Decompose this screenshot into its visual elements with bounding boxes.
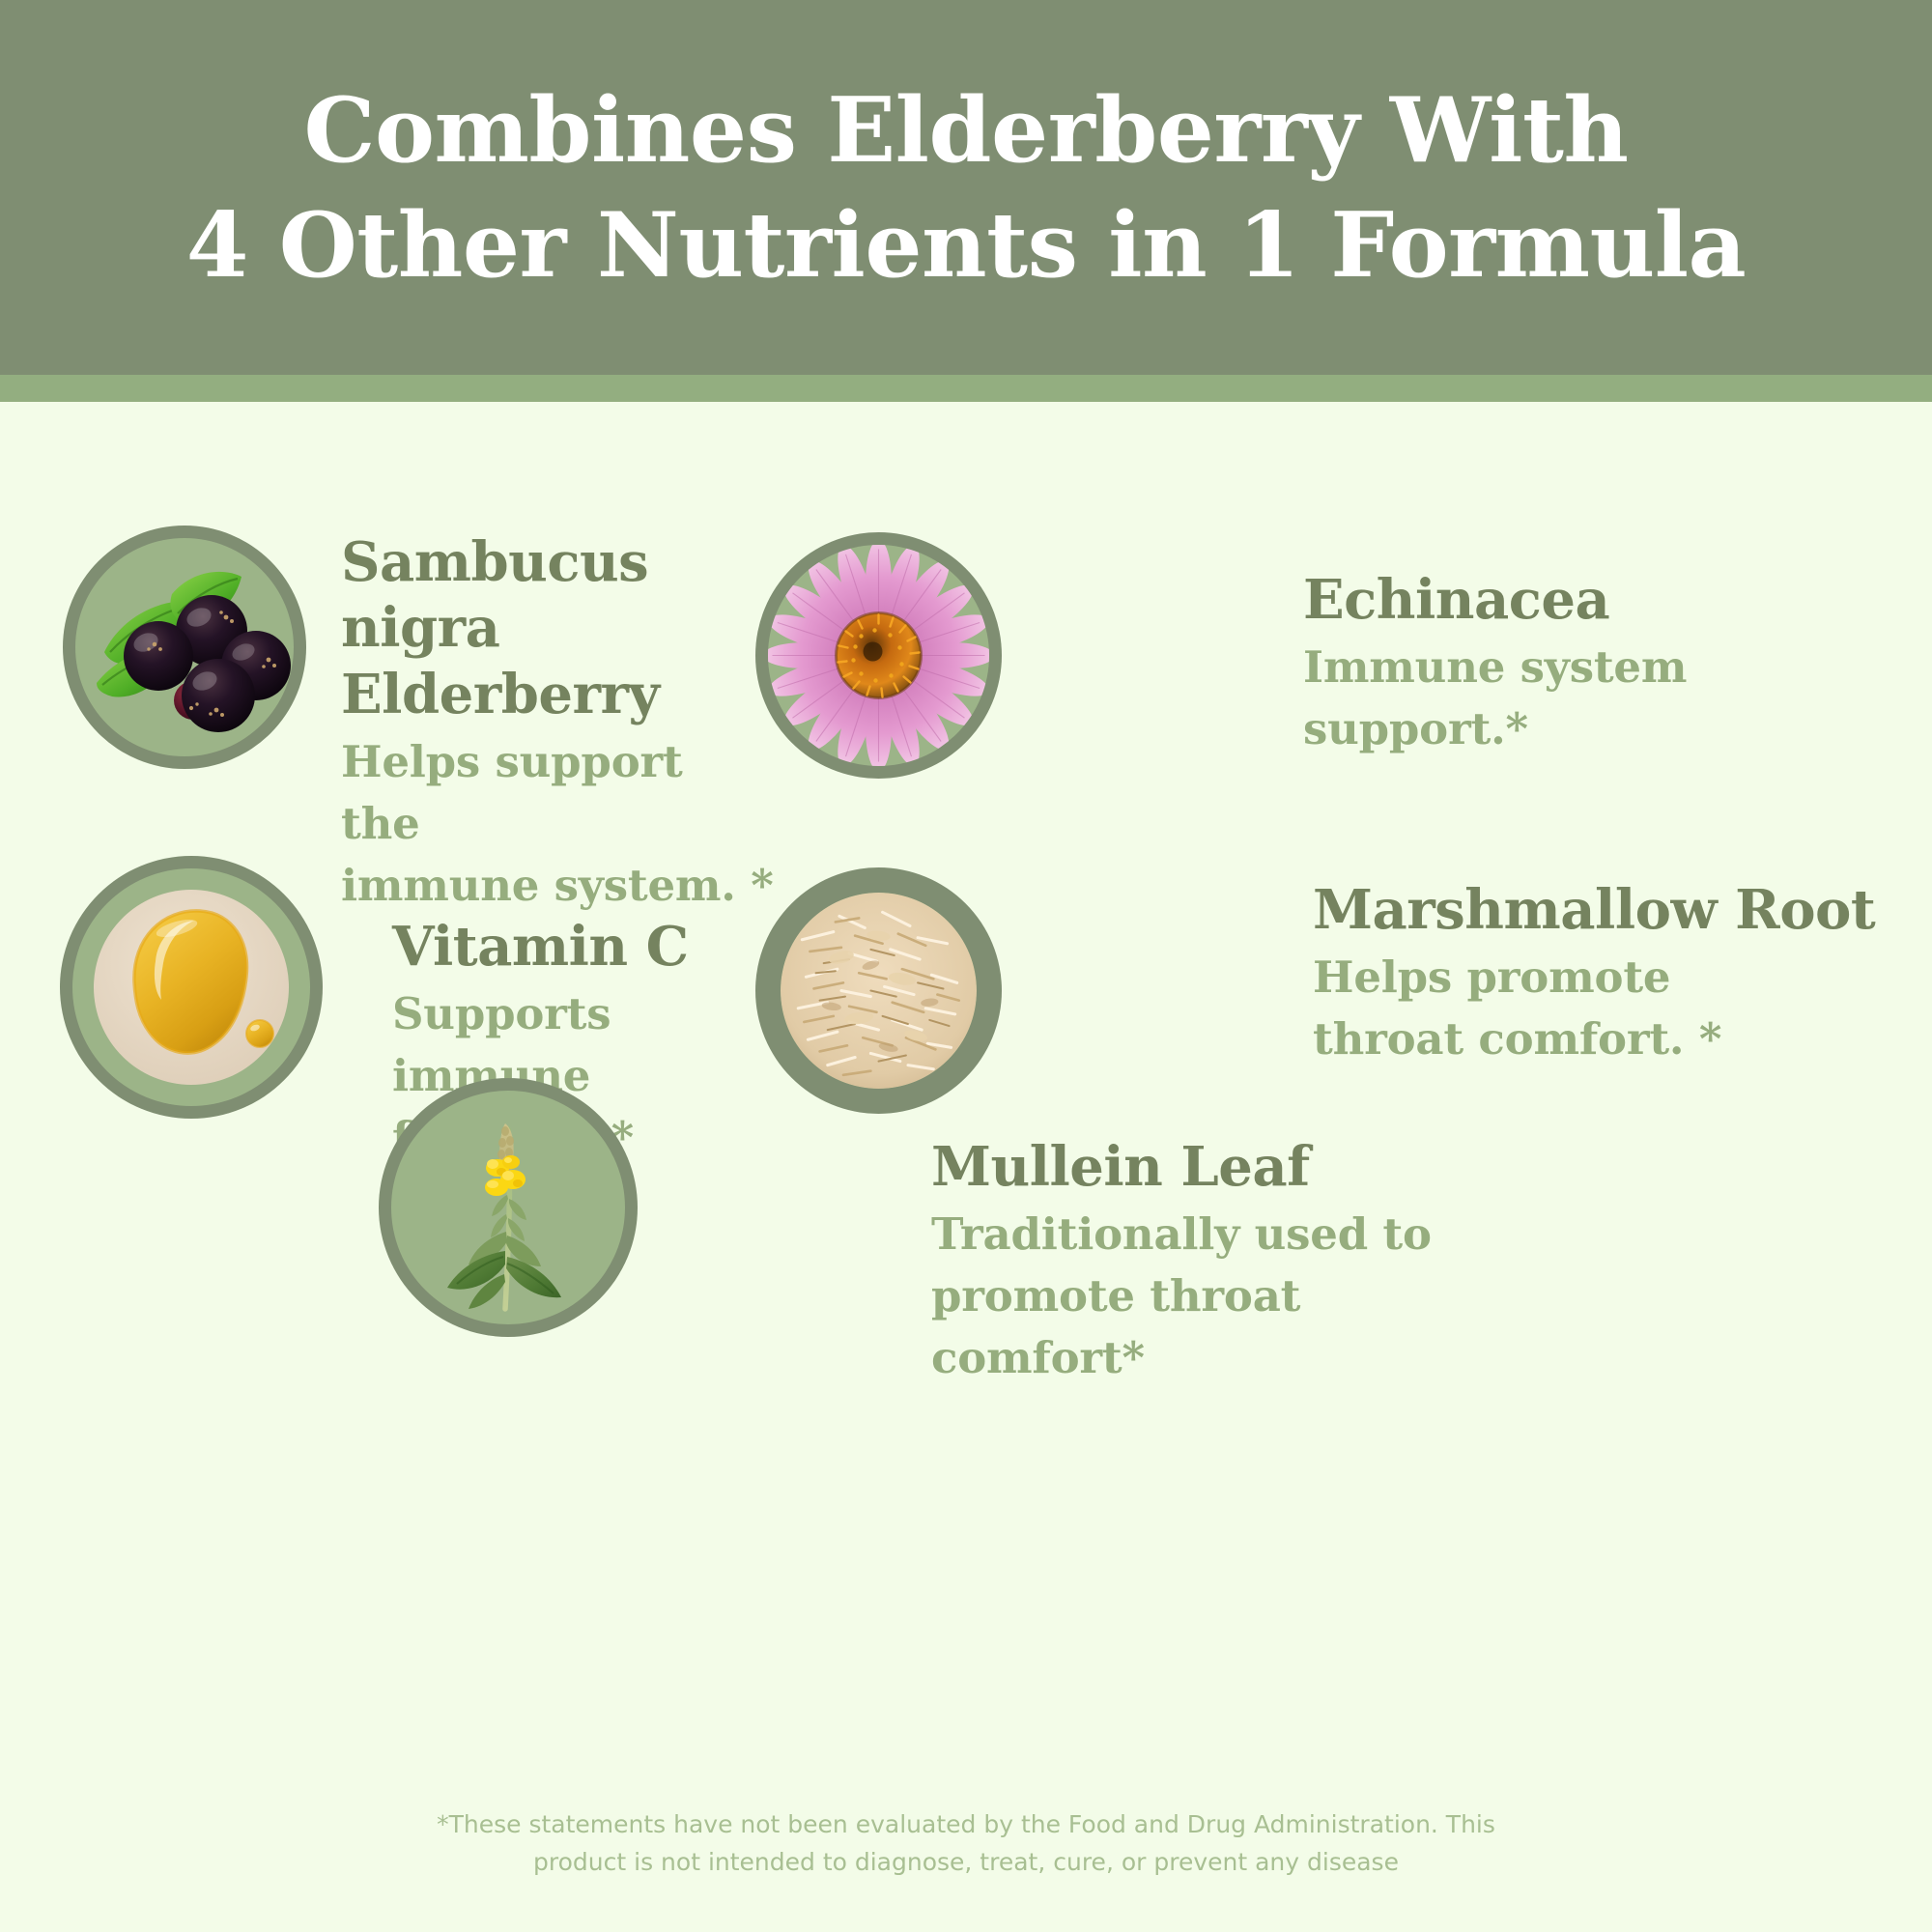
vitamin-c-title-line-1: Vitamin C — [392, 914, 775, 980]
page-title-line-2: 4 Other Nutrients in 1 Formula — [58, 187, 1874, 302]
page-title-line-1: Combines Elderberry With — [58, 72, 1874, 187]
marshmallow-root-title: Marshmallow Root — [1313, 877, 1895, 943]
mullein-leaf-description: Traditionally used to promote throat com… — [931, 1204, 1511, 1389]
echinacea-description: Immune system support.* — [1303, 637, 1844, 760]
fda-disclaimer: *These statements have not been evaluate… — [0, 1806, 1932, 1882]
page-header: Combines Elderberry With 4 Other Nutrien… — [0, 0, 1932, 375]
elderberry-icon — [75, 538, 294, 756]
marshmallow-root-text: Marshmallow Root Helps promote throat co… — [1313, 867, 1895, 1070]
ingredients-grid: Sambucus nigra Elderberry Helps support … — [0, 402, 1932, 1932]
elderberry-medallion-inner — [75, 538, 294, 756]
elderberry-title-line-1: Sambucus nigra — [341, 529, 776, 662]
vitamin-c-medallion — [60, 856, 323, 1119]
vitamin-c-title: Vitamin C — [392, 914, 775, 980]
fda-disclaimer-line-2: product is not intended to diagnose, tre… — [0, 1844, 1932, 1882]
header-accent-strip — [0, 375, 1932, 402]
page-title: Combines Elderberry With 4 Other Nutrien… — [58, 72, 1874, 302]
echinacea-desc-line-2: support.* — [1303, 698, 1844, 760]
fda-disclaimer-line-1: *These statements have not been evaluate… — [0, 1806, 1932, 1844]
marshmallow-root-title-line-1: Marshmallow Root — [1313, 877, 1895, 943]
mullein-plant-icon — [391, 1091, 625, 1324]
mullein-leaf-title-line-1: Mullein Leaf — [931, 1134, 1511, 1200]
echinacea-desc-line-1: Immune system — [1303, 637, 1844, 698]
marshmallow-root-desc-line-1: Helps promote — [1313, 947, 1895, 1009]
elderberry-title-line-2: Elderberry — [341, 662, 776, 727]
elderberry-title: Sambucus nigra Elderberry — [341, 529, 776, 727]
echinacea-title: Echinacea — [1303, 567, 1844, 633]
vitamin-c-droplet-icon — [72, 868, 310, 1106]
echinacea-text: Echinacea Immune system support.* — [1303, 532, 1844, 760]
ingredient-card-echinacea[interactable]: Echinacea Immune system support.* — [755, 532, 1876, 779]
elderberry-desc-line-1: Helps support the — [341, 731, 776, 855]
marshmallow-root-icon — [781, 893, 977, 1089]
mullein-leaf-text: Mullein Leaf Traditionally used to promo… — [931, 1078, 1511, 1389]
marshmallow-root-medallion-inner — [781, 893, 977, 1089]
vitamin-c-medallion-inner — [72, 868, 310, 1106]
marshmallow-root-medallion — [755, 867, 1002, 1114]
elderberry-medallion — [63, 526, 306, 769]
echinacea-medallion — [755, 532, 1002, 779]
echinacea-title-line-1: Echinacea — [1303, 567, 1844, 633]
mullein-leaf-desc-line-2: promote throat comfort* — [931, 1265, 1511, 1389]
mullein-leaf-desc-line-1: Traditionally used to — [931, 1204, 1511, 1265]
mullein-leaf-medallion — [379, 1078, 638, 1337]
ingredient-card-mullein-leaf[interactable]: Mullein Leaf Traditionally used to promo… — [379, 1078, 1538, 1389]
echinacea-medallion-inner — [768, 545, 989, 766]
echinacea-flower-icon — [768, 545, 989, 766]
marshmallow-root-description: Helps promote throat comfort. * — [1313, 947, 1895, 1070]
marshmallow-root-desc-line-2: throat comfort. * — [1313, 1009, 1895, 1070]
mullein-leaf-title: Mullein Leaf — [931, 1134, 1511, 1200]
ingredient-card-marshmallow-root[interactable]: Marshmallow Root Helps promote throat co… — [755, 867, 1895, 1114]
mullein-leaf-medallion-inner — [391, 1091, 625, 1324]
